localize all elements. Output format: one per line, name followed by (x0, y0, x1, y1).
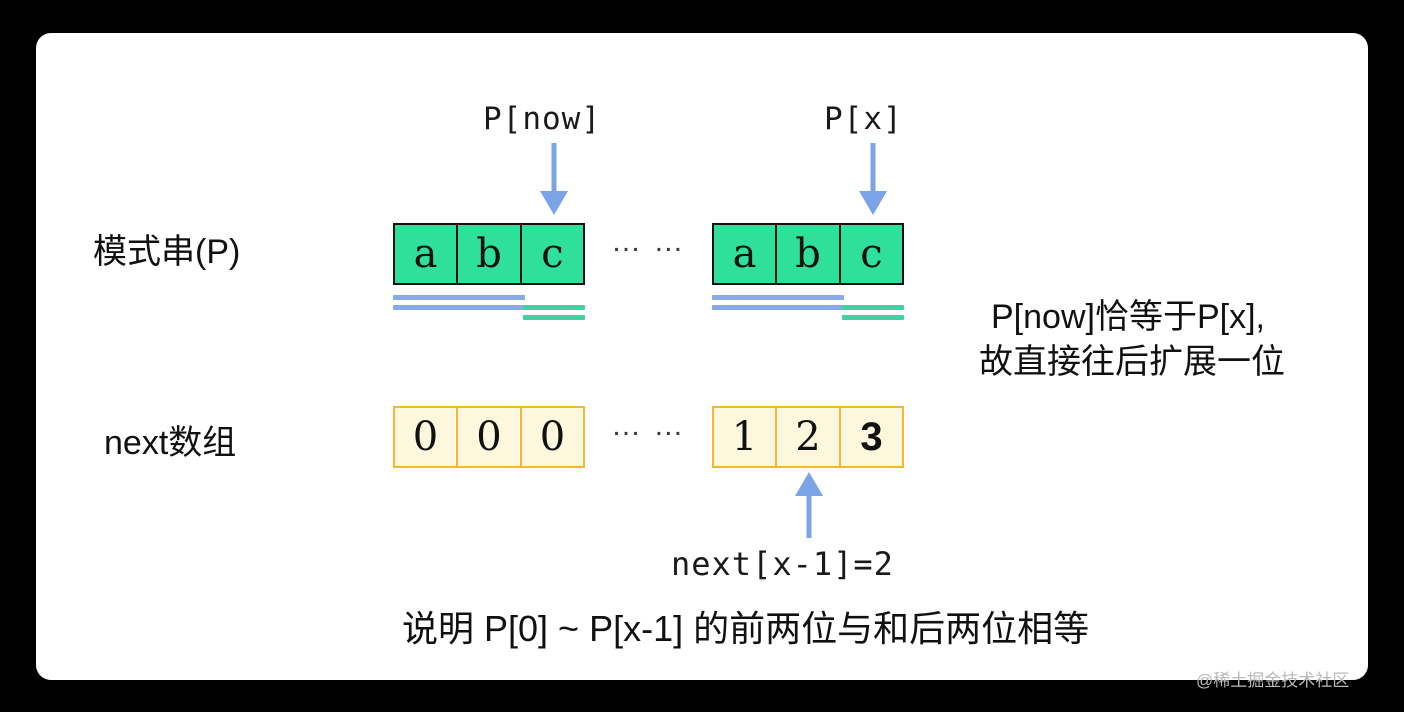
next-cell: 0 (457, 406, 521, 468)
pattern-cell: c (840, 223, 904, 285)
row-label-next-array: next数组 (104, 415, 236, 464)
pointer-label-p-now: P[now] (483, 101, 601, 137)
next-index-note: next[x-1]=2 (671, 545, 894, 583)
slide-card: P[now] P[x] 模式串(P) a b c a b c … … (36, 33, 1368, 680)
next-group-2: 1 2 3 (712, 406, 904, 468)
pattern-group-1: a b c (393, 223, 585, 285)
pattern-cell: b (457, 223, 521, 285)
pattern-cell: a (393, 223, 457, 285)
next-cell: 2 (776, 406, 840, 468)
arrow-down-p-now (536, 141, 572, 217)
arrow-down-p-x (855, 141, 891, 217)
pointer-label-p-x: P[x] (824, 101, 903, 137)
explanation-note-right: P[now]恰等于P[x], 故直接往后扩展一位 (991, 295, 1285, 385)
next-group-1: 0 0 0 (393, 406, 585, 468)
explanation-note-line-2: 故直接往后扩展一位 (979, 340, 1285, 385)
pattern-row-ellipsis: … … (611, 225, 685, 259)
arrow-up-next-x-minus-1 (791, 470, 827, 540)
pattern-cell: c (521, 223, 585, 285)
next-row-ellipsis: … … (611, 409, 685, 443)
next-cell-highlighted: 3 (840, 406, 904, 468)
row-label-pattern-string: 模式串(P) (93, 224, 240, 273)
bottom-explanation-note: 说明 P[0] ~ P[x-1] 的前两位与和后两位相等 (402, 600, 1089, 652)
pattern-cell: b (776, 223, 840, 285)
next-cell: 0 (521, 406, 585, 468)
next-cell: 0 (393, 406, 457, 468)
explanation-note-line-1: P[now]恰等于P[x], (991, 295, 1285, 340)
next-cell: 1 (712, 406, 776, 468)
pattern-group-2: a b c (712, 223, 904, 285)
watermark: @稀土掘金技术社区 (1196, 666, 1349, 691)
pattern-cell: a (712, 223, 776, 285)
diagram-canvas: P[now] P[x] 模式串(P) a b c a b c … … (0, 0, 1404, 712)
